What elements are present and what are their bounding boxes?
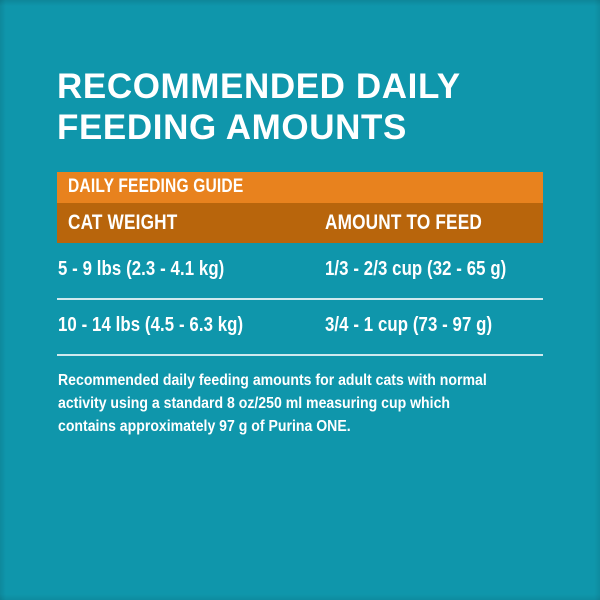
table-row: 5 - 9 lbs (2.3 - 4.1 kg) 1/3 - 2/3 cup (… xyxy=(57,243,543,299)
cell-amount-to-feed: 1/3 - 2/3 cup (32 - 65 g) xyxy=(325,258,506,281)
feeding-guide-panel: RECOMMENDED DAILY FEEDING AMOUNTS DAILY … xyxy=(0,0,600,600)
cell-amount-to-feed: 3/4 - 1 cup (73 - 97 g) xyxy=(325,314,492,337)
feeding-footnote: Recommended daily feeding amounts for ad… xyxy=(58,369,498,438)
page-title: RECOMMENDED DAILY FEEDING AMOUNTS xyxy=(57,66,557,148)
daily-feeding-guide-banner: DAILY FEEDING GUIDE xyxy=(57,172,543,203)
cell-cat-weight: 10 - 14 lbs (4.5 - 6.3 kg) xyxy=(58,314,243,337)
row-divider xyxy=(57,354,543,356)
cell-cat-weight: 5 - 9 lbs (2.3 - 4.1 kg) xyxy=(58,258,224,281)
column-header-cat-weight: CAT WEIGHT xyxy=(68,211,177,235)
feeding-table-body: 5 - 9 lbs (2.3 - 4.1 kg) 1/3 - 2/3 cup (… xyxy=(57,243,543,355)
column-header-amount-to-feed: AMOUNT TO FEED xyxy=(325,211,482,235)
table-column-header-row: CAT WEIGHT AMOUNT TO FEED xyxy=(57,203,543,243)
table-row: 10 - 14 lbs (4.5 - 6.3 kg) 3/4 - 1 cup (… xyxy=(57,299,543,355)
daily-feeding-guide-banner-label: DAILY FEEDING GUIDE xyxy=(68,176,243,198)
